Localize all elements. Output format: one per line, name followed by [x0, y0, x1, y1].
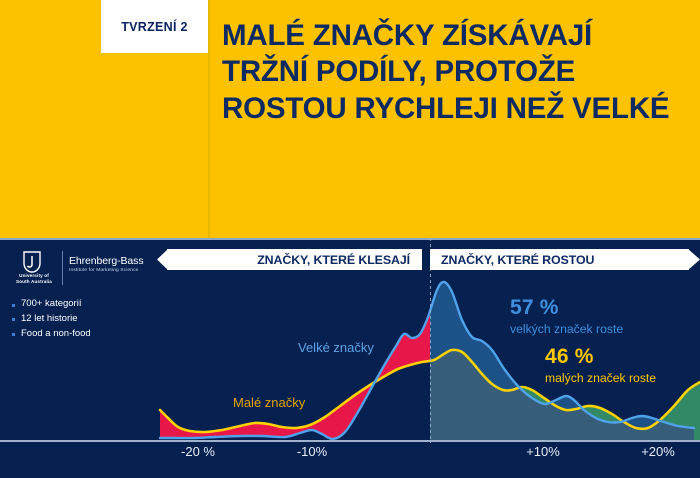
headline-line-3: ROSTOU RYCHLEJI NEŽ VELKÉ — [222, 91, 700, 127]
claim-badge-label: TVRZENÍ 2 — [121, 20, 188, 34]
stat-large-brands-caption: velkých značek roste — [510, 323, 623, 335]
banner-declining: ZNAČKY, KTERÉ KLESAJÍ — [157, 249, 422, 270]
x-axis-tick: +10% — [526, 444, 560, 459]
headline-line-1: MALÉ ZNAČKY ZÍSKÁVAJÍ — [222, 18, 700, 54]
headline-line-2: TRŽNÍ PODÍLY, PROTOŽE — [222, 54, 700, 90]
x-axis-tick-labels: -20 %-10%+10%+20% — [0, 444, 700, 470]
x-axis-tick: +20% — [641, 444, 675, 459]
header-divider — [208, 0, 210, 238]
series-label-male-znacky: Malé značky — [233, 395, 305, 410]
stat-large-brands-value: 57 % — [510, 297, 623, 318]
series-label-velke-znacky: Velké značky — [298, 340, 374, 355]
banner-growing: ZNAČKY, KTERÉ ROSTOU — [430, 249, 700, 270]
claim-badge: TVRZENÍ 2 — [101, 0, 208, 53]
arrow-right-icon — [688, 249, 700, 270]
stat-large-brands: 57 % velkých značek roste — [510, 297, 623, 335]
x-axis-tick: -10% — [297, 444, 327, 459]
banner-growing-label: ZNAČKY, KTERÉ ROSTOU — [441, 249, 594, 270]
chart-panel: University of South Australia Ehrenberg-… — [0, 238, 700, 478]
stat-small-brands: 46 % malých značek roste — [545, 346, 656, 384]
stat-small-brands-caption: malých značek roste — [545, 372, 656, 384]
x-axis-line — [0, 440, 700, 442]
x-axis-tick: -20 % — [181, 444, 215, 459]
header-banner: TVRZENÍ 2 MALÉ ZNAČKY ZÍSKÁVAJÍ TRŽNÍ PO… — [0, 0, 700, 238]
slide-root: TVRZENÍ 2 MALÉ ZNAČKY ZÍSKÁVAJÍ TRŽNÍ PO… — [0, 0, 700, 478]
page-title: MALÉ ZNAČKY ZÍSKÁVAJÍ TRŽNÍ PODÍLY, PROT… — [222, 18, 700, 127]
banner-declining-label: ZNAČKY, KTERÉ KLESAJÍ — [257, 249, 410, 270]
stat-small-brands-value: 46 % — [545, 346, 656, 367]
